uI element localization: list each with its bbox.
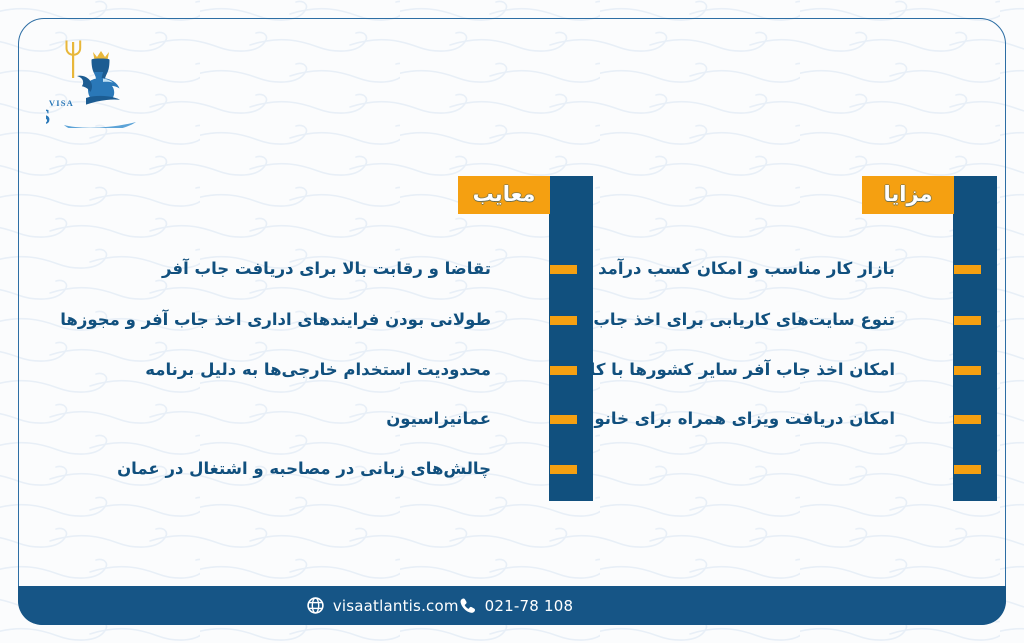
advantages-list-item: بازار کار مناسب و امکان کسب درآمد بالا bbox=[568, 259, 895, 279]
advantages-item-label: امکان دریافت ویزای همراه برای خانواده bbox=[571, 409, 895, 429]
svg-text:ATLANTIS: ATLANTIS bbox=[46, 104, 50, 128]
disadvantages-item-label: تقاضا و رقابت بالا برای دریافت جاب آفر bbox=[162, 259, 491, 279]
disadvantages-list-item: طولانی بودن فرایندهای اداری اخذ جاب آفر … bbox=[60, 310, 491, 330]
disadvantages-tick-5 bbox=[550, 465, 577, 474]
advantages-heading-badge: مزایا bbox=[862, 176, 954, 214]
disadvantages-list-item: چالش‌های زبانی در مصاحبه و اشتغال در عما… bbox=[117, 459, 491, 479]
advantages-tick-3 bbox=[954, 366, 981, 375]
footer-website[interactable]: visaatlantis.com bbox=[307, 597, 459, 615]
disadvantages-item-label: چالش‌های زبانی در مصاحبه و اشتغال در عما… bbox=[117, 459, 491, 479]
disadvantages-item-label: طولانی بودن فرایندهای اداری اخذ جاب آفر … bbox=[60, 310, 491, 330]
disadvantages-tick-2 bbox=[550, 316, 577, 325]
phone-icon bbox=[459, 597, 476, 614]
disadvantages-list-item: عمانیزاسیون bbox=[386, 409, 491, 429]
disadvantages-column-bar bbox=[549, 176, 593, 501]
disadvantages-list-item: محدودیت استخدام خارجی‌ها به دلیل برنامه bbox=[145, 360, 491, 380]
disadvantages-item-label: محدودیت استخدام خارجی‌ها به دلیل برنامه bbox=[145, 360, 491, 380]
disadvantages-list-item: تقاضا و رقابت بالا برای دریافت جاب آفر bbox=[162, 259, 491, 279]
advantages-item-label: تنوع سایت‌های کاریابی برای اخذ جاب آفر bbox=[561, 310, 895, 330]
footer-phone[interactable]: 021-78 108 bbox=[459, 597, 574, 615]
advantages-tick-4 bbox=[954, 415, 981, 424]
advantages-list-item: تنوع سایت‌های کاریابی برای اخذ جاب آفر bbox=[561, 310, 895, 330]
advantages-item-label: بازار کار مناسب و امکان کسب درآمد بالا bbox=[568, 259, 895, 279]
advantages-tick-1 bbox=[954, 265, 981, 274]
advantages-item-label: امکان اخذ جاب آفر سایر کشورها با کار bbox=[580, 360, 895, 380]
svg-text:VISA: VISA bbox=[49, 98, 74, 108]
disadvantages-tick-3 bbox=[550, 366, 577, 375]
globe-icon bbox=[307, 597, 324, 614]
footer-contact-bar: visaatlantis.com 021-78 108 bbox=[18, 586, 1006, 625]
advantages-list-item: امکان اخذ جاب آفر سایر کشورها با کار bbox=[580, 360, 895, 380]
advantages-tick-5 bbox=[954, 465, 981, 474]
disadvantages-heading-label: معایب bbox=[473, 184, 536, 207]
advantages-tick-2 bbox=[954, 316, 981, 325]
advantages-heading-label: مزایا bbox=[883, 184, 932, 207]
disadvantages-heading-badge: معایب bbox=[458, 176, 550, 214]
footer-phone-label: 021-78 108 bbox=[485, 597, 574, 615]
footer-website-label: visaatlantis.com bbox=[333, 597, 459, 615]
disadvantages-item-label: عمانیزاسیون bbox=[386, 409, 491, 429]
disadvantages-tick-4 bbox=[550, 415, 577, 424]
advantages-column-bar bbox=[953, 176, 997, 501]
disadvantages-tick-1 bbox=[550, 265, 577, 274]
advantages-list-item: امکان دریافت ویزای همراه برای خانواده bbox=[571, 409, 895, 429]
visa-atlantis-logo: VISA ATLANTIS bbox=[46, 36, 158, 128]
